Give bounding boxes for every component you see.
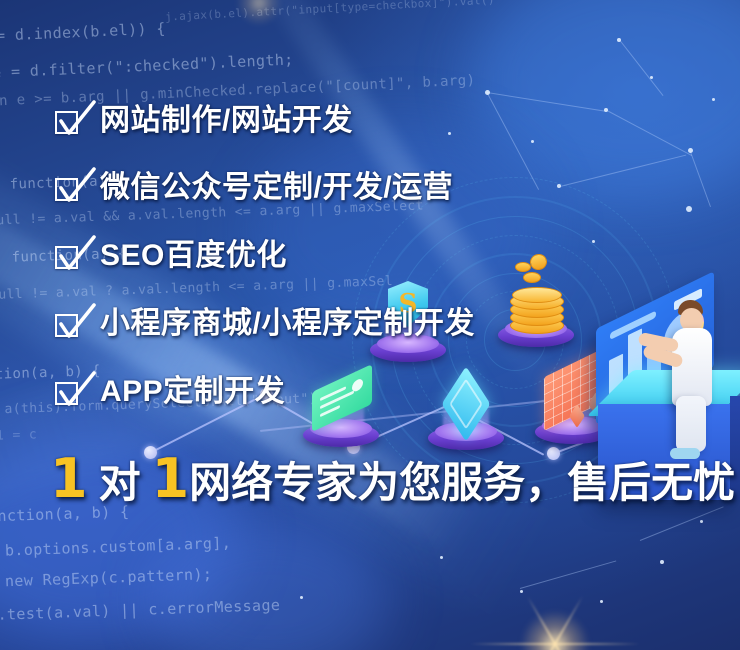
headline-tail: 网络专家为您服务，售后无忧！	[189, 462, 740, 504]
checkbox-checked-icon[interactable]	[55, 175, 82, 202]
code-line: 1 = c	[0, 427, 37, 443]
code-line: null != a.val ? a.val.length <= a.arg ||…	[0, 274, 393, 303]
promo-banner: j.ajax(b.el).attr("input[type=checkbox]"…	[0, 0, 740, 650]
checklist-label: SEO百度优化	[100, 241, 287, 271]
checklist-label: 小程序商城/小程序定制开发	[100, 309, 475, 339]
checkbox-checked-icon[interactable]	[55, 243, 82, 270]
checkbox-checked-icon[interactable]	[55, 108, 82, 135]
checklist-item-1[interactable]: 微信公众号定制/开发/运营	[55, 173, 453, 203]
checklist-item-2[interactable]: SEO百度优化	[55, 241, 287, 271]
headline-slogan: 1 对 1 网络专家为您服务，售后无忧！	[50, 452, 740, 506]
headline-number-first: 1	[50, 452, 88, 506]
checklist-item-4[interactable]: APP定制开发	[55, 377, 285, 407]
code-line: = b.options.custom[a.arg],	[0, 534, 231, 561]
code-line: = new RegExp(c.pattern);	[0, 565, 213, 591]
code-line: = d.index(b.el)) {	[0, 19, 166, 44]
code-line: d.test(a.val) || c.errorMessage	[0, 596, 281, 624]
checklist-item-3[interactable]: 小程序商城/小程序定制开发	[55, 309, 475, 339]
checklist-label: 微信公众号定制/开发/运营	[100, 173, 453, 203]
code-line: j.ajax(b.el).attr("input[type=checkbox]"…	[165, 0, 495, 24]
checkbox-checked-icon[interactable]	[55, 311, 82, 338]
headline-number-second: 1	[152, 452, 190, 506]
headline-word-middle: 对	[99, 462, 141, 504]
checklist-label: 网站制作/网站开发	[100, 106, 353, 136]
checklist-label: APP定制开发	[100, 377, 285, 407]
checklist-item-0[interactable]: 网站制作/网站开发	[55, 106, 353, 136]
code-line: e = d.filter(":checked").length;	[0, 50, 294, 81]
checkbox-checked-icon[interactable]	[55, 379, 82, 406]
